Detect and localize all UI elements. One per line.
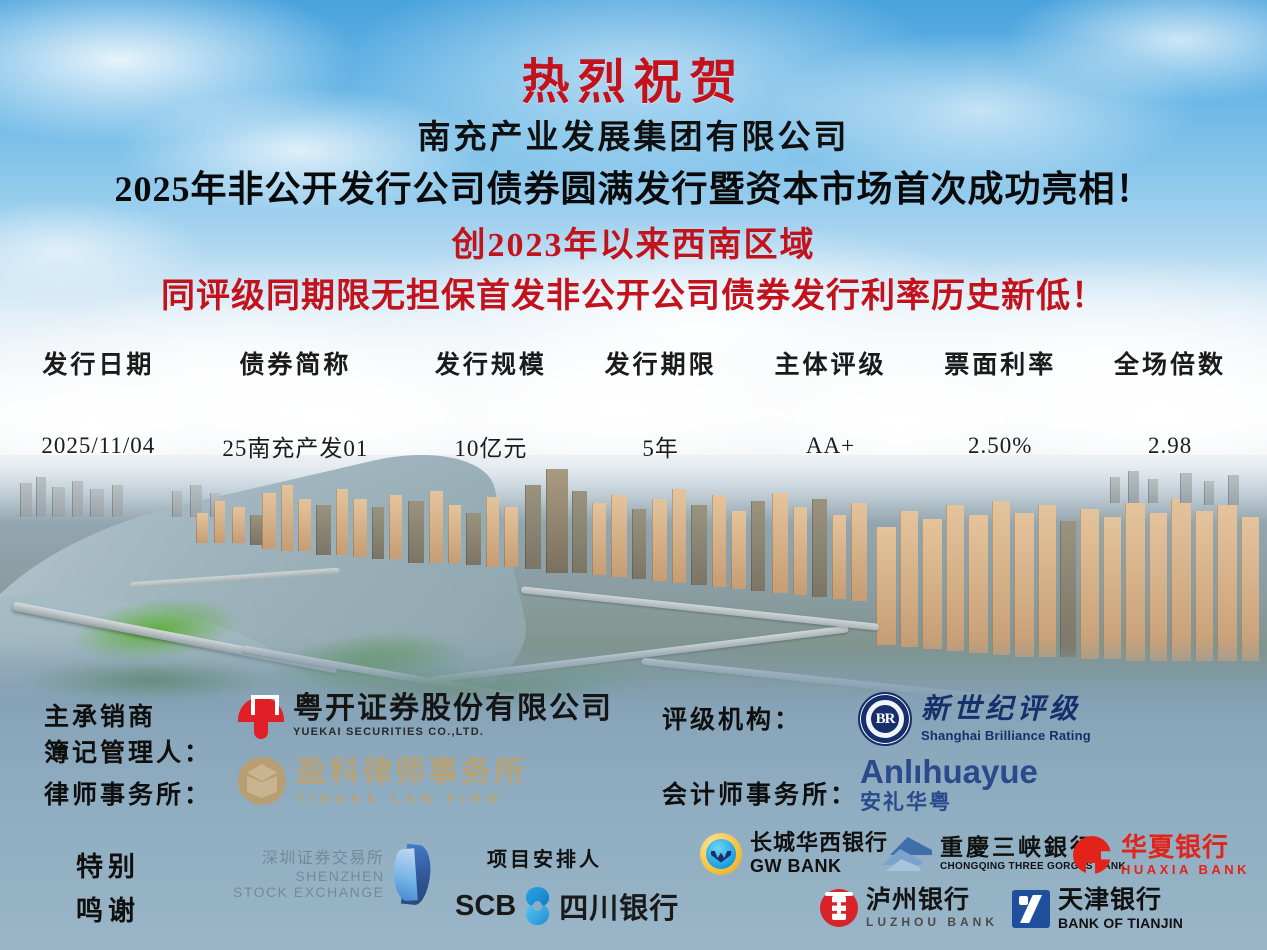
gw-bank-name-en: GW BANK (750, 857, 888, 875)
yuekai-name-en: YUEKAI SECURITIES CO.,LTD. (293, 727, 613, 738)
rating-agency-name-cn: 新世纪评级 (921, 696, 1091, 724)
col-header-bond-name: 债券简称 (185, 345, 406, 389)
huaxia-icon (1073, 836, 1113, 874)
underwriter-label-line1: 主承销商 (44, 700, 212, 736)
col-header-issue-size: 发行规模 (406, 345, 576, 389)
special-thanks-line2: 鸣谢 (76, 889, 140, 933)
scb-name-cn: 四川银行 (559, 885, 679, 927)
gw-bank-icon (700, 833, 742, 875)
celebration-poster: 热烈祝贺 南充产业发展集团有限公司 2025年非公开发行公司债券圆满发行暨资本市… (0, 0, 1267, 950)
cell-tenor: 5年 (576, 389, 746, 463)
gw-bank-name-cn: 长城华西银行 (750, 832, 888, 854)
cell-issue-date: 2025/11/04 (12, 389, 185, 463)
szse-name-en-line1: SHENZHEN (295, 868, 384, 884)
luzhou-bank-logo: 泸州银行 LUZHOU BANK (820, 888, 998, 928)
underwriter-label-line2: 簿记管理人： (44, 736, 212, 772)
rating-agency-name-en: Shanghai Brilliance Rating (921, 729, 1091, 742)
szse-name-en-line2: STOCK EXCHANGE (233, 884, 384, 900)
accountant-label: 会计师事务所： (662, 775, 858, 811)
luzhou-icon (820, 889, 858, 927)
anlihuayue-accounting-logo: Anlıhuayue 安礼华粤 (860, 755, 1038, 813)
yingke-lawfirm-logo: 盈科律师事务所 YINGKE LAW FIRM (238, 757, 527, 805)
cell-bid-multiple: 2.98 (1085, 389, 1255, 463)
col-header-tenor: 发行期限 (576, 345, 746, 389)
huaxia-bank-name-cn: 华夏银行 (1121, 834, 1250, 860)
congratulations-heading: 热烈祝贺 (0, 42, 1267, 112)
special-thanks-label: 特别 鸣谢 (76, 845, 140, 933)
special-thanks-line1: 特别 (76, 845, 140, 889)
brilliance-seal-icon: BR (858, 692, 912, 746)
scb-infinity-icon (524, 887, 551, 925)
yingke-name-en: YINGKE LAW FIRM (296, 792, 527, 805)
yingke-cube-icon (238, 757, 286, 805)
luzhou-bank-name-en: LUZHOU BANK (866, 916, 998, 928)
arranger-label: 项目安排人 (487, 843, 602, 872)
scb-name-en: SCB (455, 890, 516, 923)
cell-coupon-rate: 2.50% (915, 389, 1085, 463)
company-name: 南充产业发展集团有限公司 (0, 110, 1267, 158)
headline-line-1: 2025年非公开发行公司债券圆满发行暨资本市场首次成功亮相！ (0, 160, 1267, 212)
cell-issue-size: 10亿元 (406, 389, 576, 463)
yuekai-securities-logo: 粤开证券股份有限公司 YUEKAI SECURITIES CO.,LTD. (238, 693, 613, 739)
yingke-name-cn: 盈科律师事务所 (296, 758, 527, 788)
luzhou-bank-name-cn: 泸州银行 (866, 888, 998, 913)
gw-bank-logo: 长城华西银行 GW BANK (700, 832, 888, 875)
lawfirm-label: 律师事务所： (44, 775, 212, 811)
shenzhen-stock-exchange-logo: 深圳证券交易所 SHENZHEN STOCK EXCHANGE (233, 845, 432, 905)
szse-name-cn: 深圳证券交易所 (262, 850, 385, 868)
tianjin-bank-name-cn: 天津银行 (1058, 888, 1183, 913)
cell-bond-name: 25南充产发01 (185, 389, 406, 463)
accountant-name-cn: 安礼华粤 (860, 792, 1038, 813)
szse-leaf-icon (390, 845, 432, 905)
col-header-coupon-rate: 票面利率 (915, 345, 1085, 389)
headline-line-2: 创2023年以来西南区域 (0, 217, 1267, 266)
accountant-name-en: Anlıhuayue (860, 755, 1038, 788)
table-row: 2025/11/04 25南充产发01 10亿元 5年 AA+ 2.50% 2.… (12, 389, 1255, 463)
headline-line-3: 同评级同期限无担保首发非公开公司债券发行利率历史新低！ (0, 268, 1267, 317)
yuekai-name-cn: 粤开证券股份有限公司 (293, 694, 613, 724)
shanghai-brilliance-rating-logo: BR 新世纪评级 Shanghai Brilliance Rating (858, 692, 1091, 746)
bond-summary-table: 发行日期 债券简称 发行规模 发行期限 主体评级 票面利率 全场倍数 2025/… (12, 345, 1255, 463)
brilliance-seal-text: BR (871, 705, 899, 733)
cell-issuer-rating: AA+ (746, 389, 916, 463)
col-header-bid-multiple: 全场倍数 (1085, 345, 1255, 389)
huaxia-bank-name-en: HUAXIA BANK (1121, 863, 1250, 876)
underwriter-label: 主承销商 簿记管理人： (44, 700, 212, 772)
bank-of-tianjin-logo: 天津银行 BANK OF TIANJIN (1012, 888, 1183, 930)
col-header-issue-date: 发行日期 (12, 345, 185, 389)
rating-label: 评级机构： (662, 700, 802, 736)
sichuan-bank-logo: SCB 四川银行 (455, 885, 679, 927)
tianjin-icon (1012, 890, 1050, 928)
cq-mountain-icon (882, 837, 932, 871)
table-header-row: 发行日期 债券简称 发行规模 发行期限 主体评级 票面利率 全场倍数 (12, 345, 1255, 389)
yuekai-logo-icon (238, 693, 284, 739)
col-header-issuer-rating: 主体评级 (746, 345, 916, 389)
tianjin-bank-name-en: BANK OF TIANJIN (1058, 916, 1183, 930)
huaxia-bank-logo: 华夏银行 HUAXIA BANK (1073, 834, 1250, 876)
